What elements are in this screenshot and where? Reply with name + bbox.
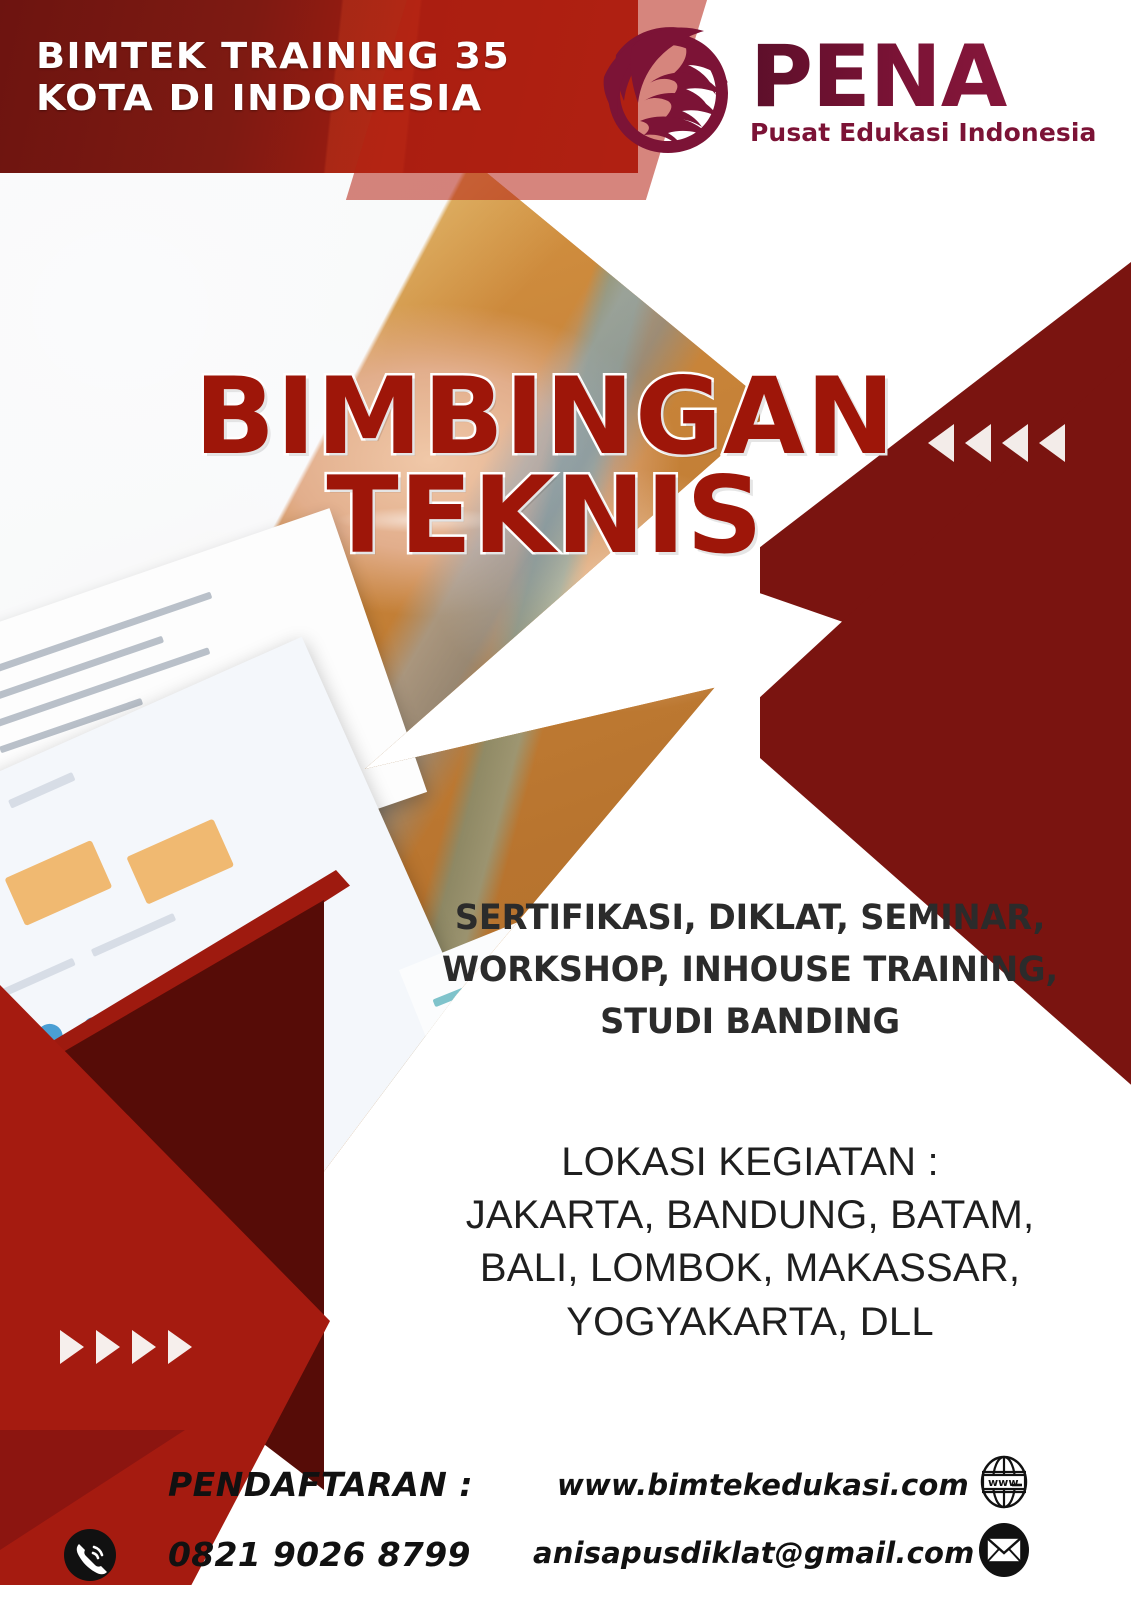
triangle-left-icon [928,424,954,462]
website-url[interactable]: www.bimtekedukasi.com [557,1468,969,1502]
brand-logo: PENA Pusat Edukasi Indonesia [598,22,1110,164]
email-address[interactable]: anisapusdiklat@gmail.com [533,1536,975,1570]
locations-block: LOKASI KEGIATAN : JAKARTA, BANDUNG, BATA… [395,1136,1105,1349]
logo-text-block: PENA Pusat Edukasi Indonesia [750,39,1097,147]
pena-feather-circle-icon [598,25,738,161]
globe-www-icon[interactable]: www. [978,1454,1030,1510]
svg-text:www.: www. [988,1476,1022,1489]
header-title: BIMTEK TRAINING 35 KOTA DI INDONESIA [36,36,510,121]
poster-canvas: BIMTEK TRAINING 35 KOTA DI INDONESIA PEN… [0,0,1131,1600]
services-text: SERTIFIKASI, DIKLAT, SEMINAR, WORKSHOP, … [419,893,1081,1048]
registration-label: PENDAFTARAN : [168,1465,473,1504]
triangle-right-icon [132,1330,156,1364]
right-pointing-arrows-group [60,1330,192,1364]
logo-wordmark: PENA [750,39,1097,116]
triangle-right-icon [60,1330,84,1364]
hero-title: BIMBINGAN TEKNIS [185,368,905,565]
locations-line-1: JAKARTA, BANDUNG, BATAM, [395,1189,1105,1242]
logo-tagline: Pusat Edukasi Indonesia [750,118,1097,147]
triangle-left-icon [965,424,991,462]
triangle-right-icon [168,1330,192,1364]
hero-title-line-2: TEKNIS [185,467,905,566]
locations-line-2: BALI, LOMBOK, MAKASSAR, [395,1242,1105,1295]
phone-number[interactable]: 0821 9026 8799 [168,1535,471,1574]
triangle-right-icon [96,1330,120,1364]
triangle-left-icon [1039,424,1065,462]
triangle-left-icon [1002,424,1028,462]
envelope-icon[interactable] [978,1522,1030,1578]
header-band: BIMTEK TRAINING 35 KOTA DI INDONESIA [0,0,638,173]
locations-heading: LOKASI KEGIATAN : [395,1136,1105,1189]
phone-call-icon[interactable] [63,1528,117,1582]
locations-line-3: YOGYAKARTA, DLL [395,1296,1105,1349]
left-pointing-arrows-group [928,424,1065,462]
